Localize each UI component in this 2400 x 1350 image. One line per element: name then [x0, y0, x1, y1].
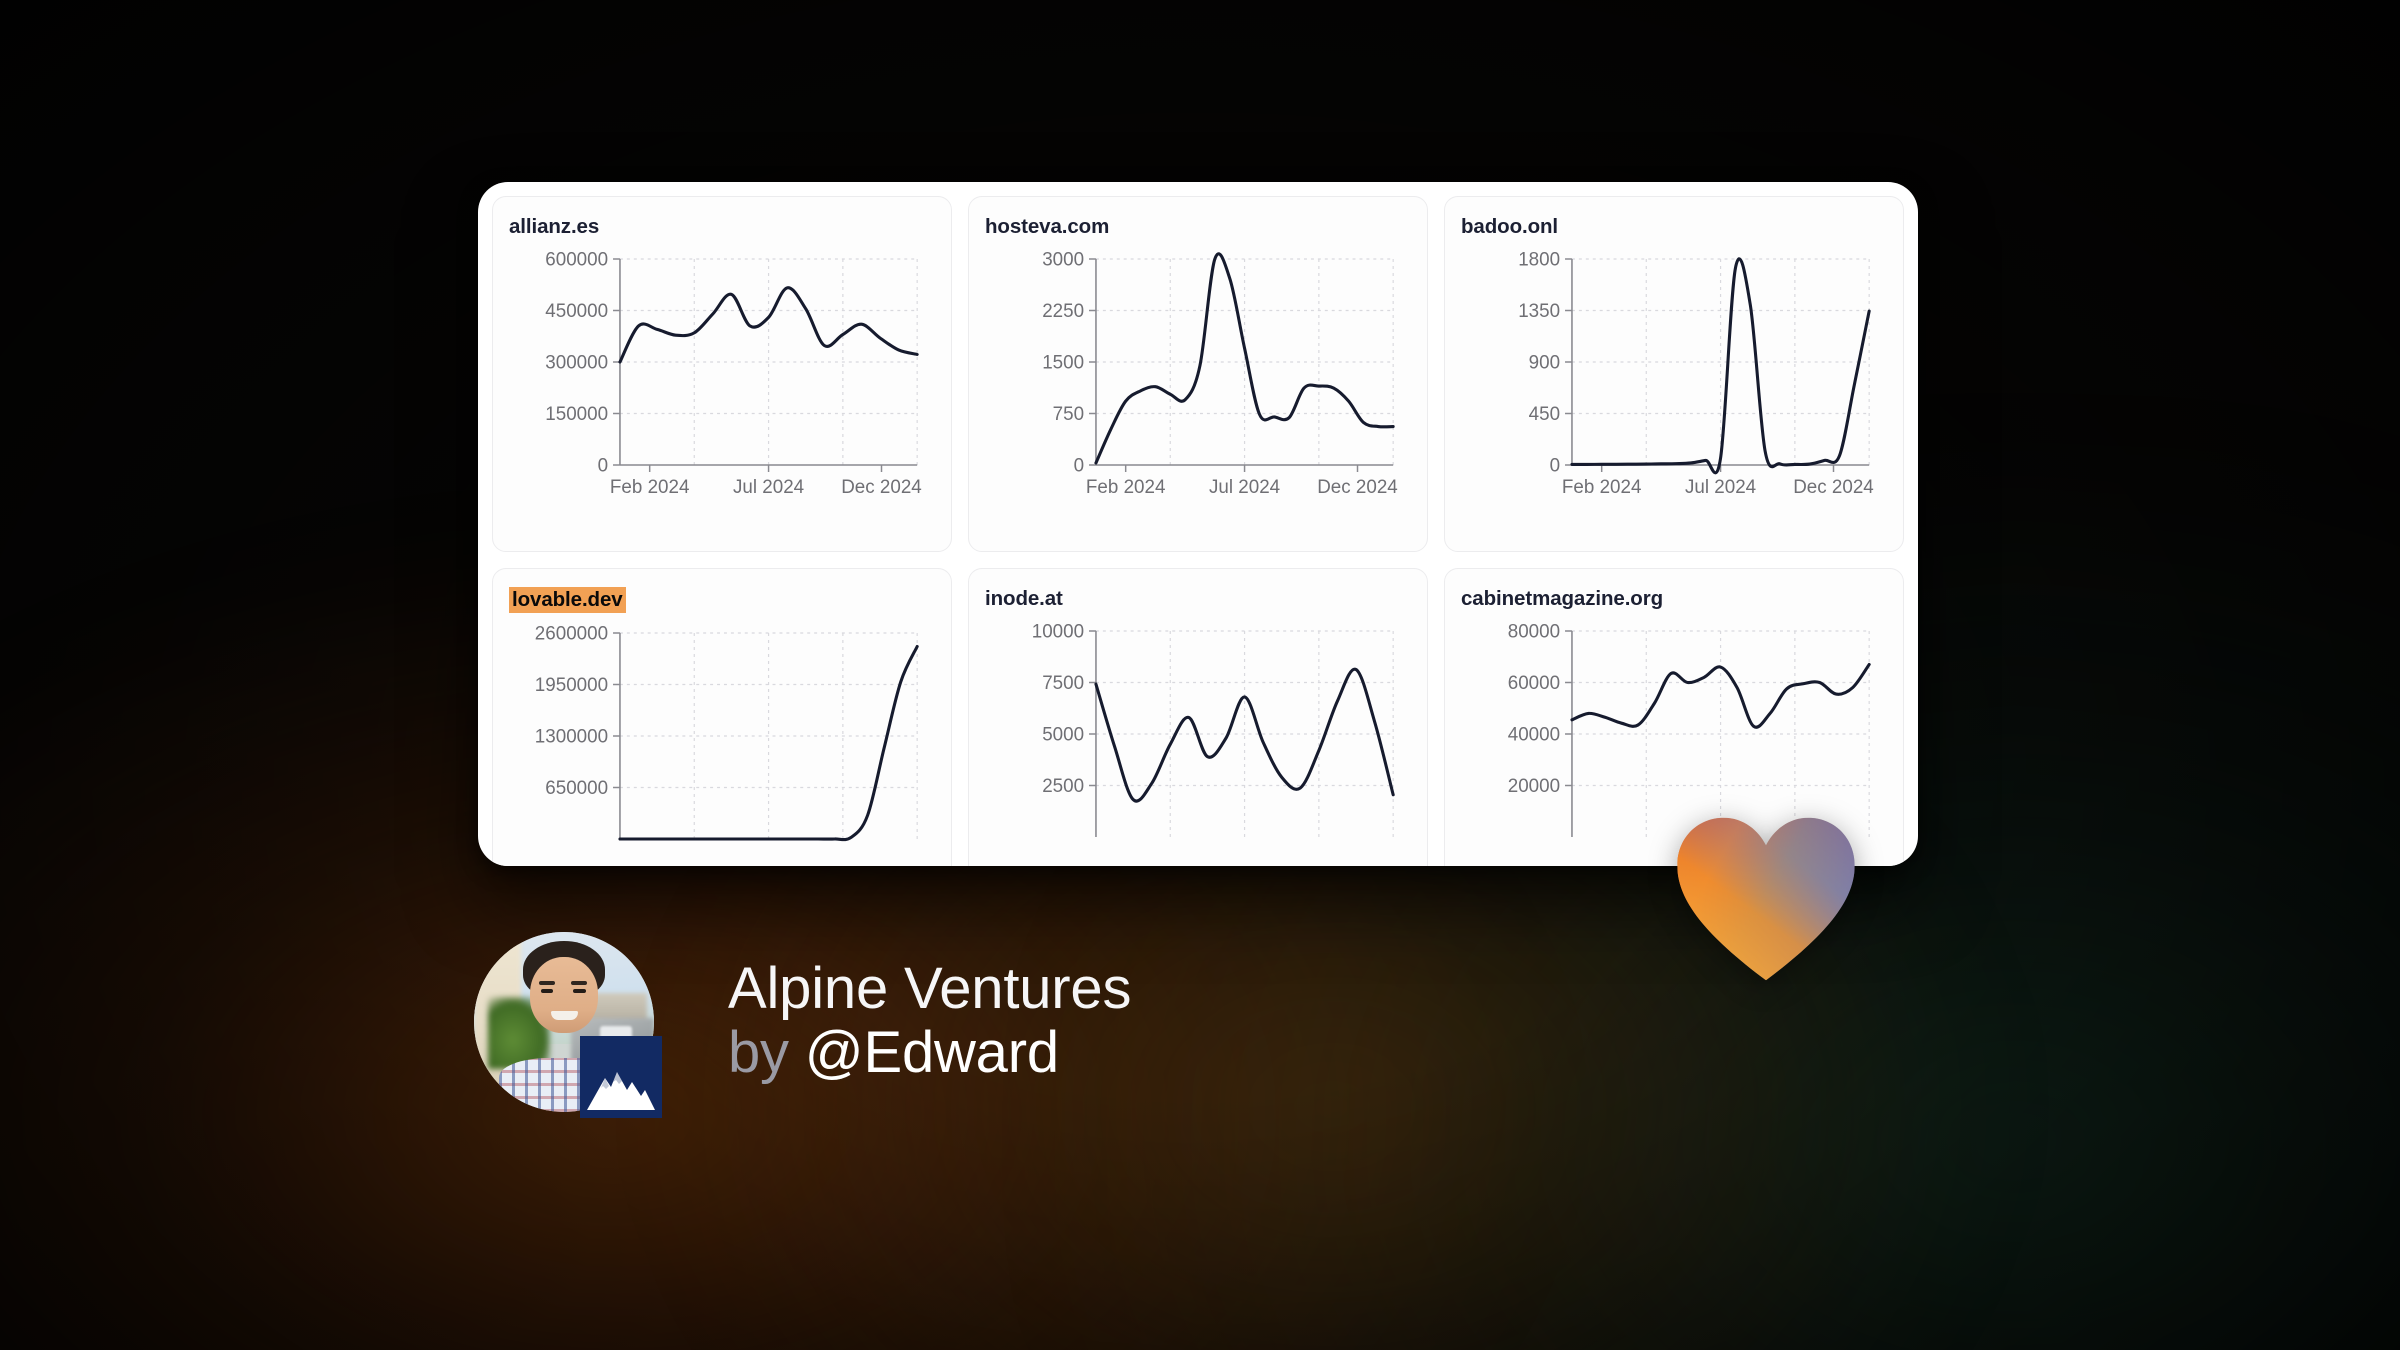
svg-text:Dec 2024: Dec 2024 — [841, 477, 922, 498]
svg-text:10000: 10000 — [1032, 621, 1084, 642]
svg-text:0: 0 — [1550, 455, 1560, 476]
svg-text:2500: 2500 — [1042, 776, 1084, 797]
chart-plot: 0750150022503000Feb 2024Jul 2024Dec 2024 — [985, 251, 1411, 509]
svg-text:450000: 450000 — [545, 301, 608, 322]
chart-title: cabinetmagazine.org — [1461, 587, 1663, 611]
svg-text:Jul 2024: Jul 2024 — [1685, 477, 1756, 498]
chart-title: hosteva.com — [985, 215, 1109, 239]
svg-text:Feb 2024: Feb 2024 — [1562, 477, 1642, 498]
svg-text:1950000: 1950000 — [535, 675, 608, 696]
chart-grid: allianz.es0150000300000450000600000Feb 2… — [492, 196, 1904, 866]
svg-text:2250: 2250 — [1042, 301, 1084, 322]
svg-text:1350: 1350 — [1518, 301, 1560, 322]
by-label: by — [728, 1020, 789, 1085]
svg-text:60000: 60000 — [1508, 673, 1560, 694]
svg-text:150000: 150000 — [545, 404, 608, 425]
chart-title: badoo.onl — [1461, 215, 1558, 239]
chart-plot: 0150000300000450000600000Feb 2024Jul 202… — [509, 251, 935, 509]
svg-text:0: 0 — [1074, 455, 1084, 476]
gradient-heart-icon — [1672, 814, 1860, 984]
brand-title: Alpine Ventures — [728, 958, 1131, 1019]
svg-text:Feb 2024: Feb 2024 — [610, 477, 690, 498]
footer-brand: Alpine Ventures by @Edward — [474, 932, 1131, 1112]
brand-text: Alpine Ventures by @Edward — [728, 958, 1131, 1087]
author-handle: @Edward — [805, 1020, 1059, 1085]
chart-panel[interactable]: lovable.dev650000130000019500002600000 — [492, 568, 952, 866]
mountain-logo-badge — [580, 1036, 662, 1118]
svg-text:600000: 600000 — [545, 249, 608, 270]
chart-title: inode.at — [985, 587, 1063, 611]
chart-panel[interactable]: allianz.es0150000300000450000600000Feb 2… — [492, 196, 952, 552]
chart-title: allianz.es — [509, 215, 599, 239]
svg-text:Jul 2024: Jul 2024 — [733, 477, 804, 498]
chart-panel[interactable]: badoo.onl045090013501800Feb 2024Jul 2024… — [1444, 196, 1904, 552]
svg-text:40000: 40000 — [1508, 724, 1560, 745]
avatar — [474, 932, 654, 1112]
svg-text:80000: 80000 — [1508, 621, 1560, 642]
brand-subtitle: by @Edward — [728, 1019, 1131, 1086]
svg-text:3000: 3000 — [1042, 249, 1084, 270]
svg-text:1300000: 1300000 — [535, 726, 608, 747]
svg-text:1500: 1500 — [1042, 352, 1084, 373]
chart-panel[interactable]: inode.at25005000750010000 — [968, 568, 1428, 866]
chart-panel[interactable]: hosteva.com0750150022503000Feb 2024Jul 2… — [968, 196, 1428, 552]
chart-plot: 045090013501800Feb 2024Jul 2024Dec 2024 — [1461, 251, 1887, 509]
dashboard-card: allianz.es0150000300000450000600000Feb 2… — [478, 182, 1918, 866]
svg-text:300000: 300000 — [545, 352, 608, 373]
svg-text:1800: 1800 — [1518, 249, 1560, 270]
svg-text:Dec 2024: Dec 2024 — [1317, 477, 1398, 498]
chart-plot: 650000130000019500002600000 — [509, 625, 935, 866]
svg-text:Feb 2024: Feb 2024 — [1086, 477, 1166, 498]
svg-text:0: 0 — [598, 455, 608, 476]
svg-text:750: 750 — [1053, 404, 1084, 425]
svg-text:2600000: 2600000 — [535, 623, 608, 644]
svg-text:20000: 20000 — [1508, 776, 1560, 797]
svg-text:5000: 5000 — [1042, 724, 1084, 745]
svg-text:Jul 2024: Jul 2024 — [1209, 477, 1280, 498]
svg-text:Dec 2024: Dec 2024 — [1793, 477, 1874, 498]
chart-title: lovable.dev — [509, 587, 626, 613]
svg-text:450: 450 — [1529, 404, 1560, 425]
chart-plot: 25005000750010000 — [985, 623, 1411, 866]
svg-text:7500: 7500 — [1042, 673, 1084, 694]
svg-text:900: 900 — [1529, 352, 1560, 373]
svg-text:650000: 650000 — [545, 778, 608, 799]
